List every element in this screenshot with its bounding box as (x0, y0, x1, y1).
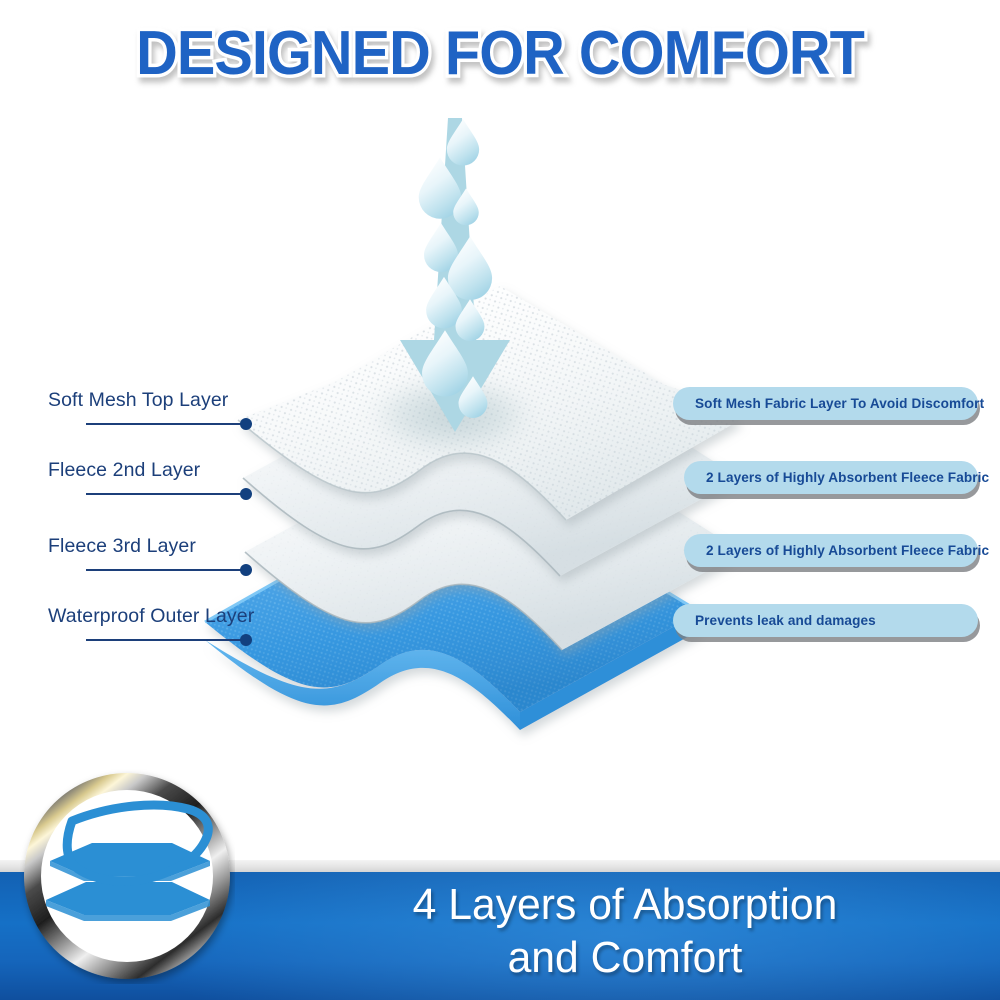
layer-label-fleece-3rd: Fleece 3rd Layer (48, 535, 348, 576)
leader-line-dot (240, 634, 252, 646)
layer-label-text: Fleece 3rd Layer (48, 535, 348, 558)
callout-soft-mesh-top: Soft Mesh Fabric Layer To Avoid Discomfo… (673, 387, 978, 420)
leader-line-dot (240, 564, 252, 576)
leader-line-bar (86, 639, 246, 641)
banner-line-1: 4 Layers of Absorption (413, 880, 838, 929)
leader-line (48, 634, 348, 646)
leader-line-bar (86, 423, 246, 425)
leader-line (48, 564, 348, 576)
layer-label-text: Waterproof Outer Layer (48, 605, 348, 628)
layer-label-text: Fleece 2nd Layer (48, 459, 348, 482)
callout-fleece-2nd: 2 Layers of Highly Absorbent Fleece Fabr… (684, 461, 978, 494)
layers-badge (20, 769, 235, 984)
callout-text: 2 Layers of Highly Absorbent Fleece Fabr… (706, 543, 989, 558)
leader-line-bar (86, 493, 246, 495)
layer-label-fleece-2nd: Fleece 2nd Layer (48, 459, 348, 500)
layer-label-text: Soft Mesh Top Layer (48, 389, 348, 412)
leader-line-bar (86, 569, 246, 571)
leader-line-dot (240, 488, 252, 500)
callout-fleece-3rd: 2 Layers of Highly Absorbent Fleece Fabr… (684, 534, 978, 567)
leader-line (48, 418, 348, 430)
layer-label-waterproof-outer: Waterproof Outer Layer (48, 605, 348, 646)
banner-line-2: and Comfort (261, 931, 989, 984)
callout-text: Prevents leak and damages (695, 613, 876, 628)
layer-label-soft-mesh-top: Soft Mesh Top Layer (48, 389, 348, 430)
callout-text: Soft Mesh Fabric Layer To Avoid Discomfo… (695, 396, 984, 411)
callout-text: 2 Layers of Highly Absorbent Fleece Fabr… (706, 470, 989, 485)
leader-line (48, 488, 348, 500)
leader-line-dot (240, 418, 252, 430)
banner-text: 4 Layers of Absorption and Comfort (261, 878, 989, 984)
callout-waterproof-outer: Prevents leak and damages (673, 604, 978, 637)
